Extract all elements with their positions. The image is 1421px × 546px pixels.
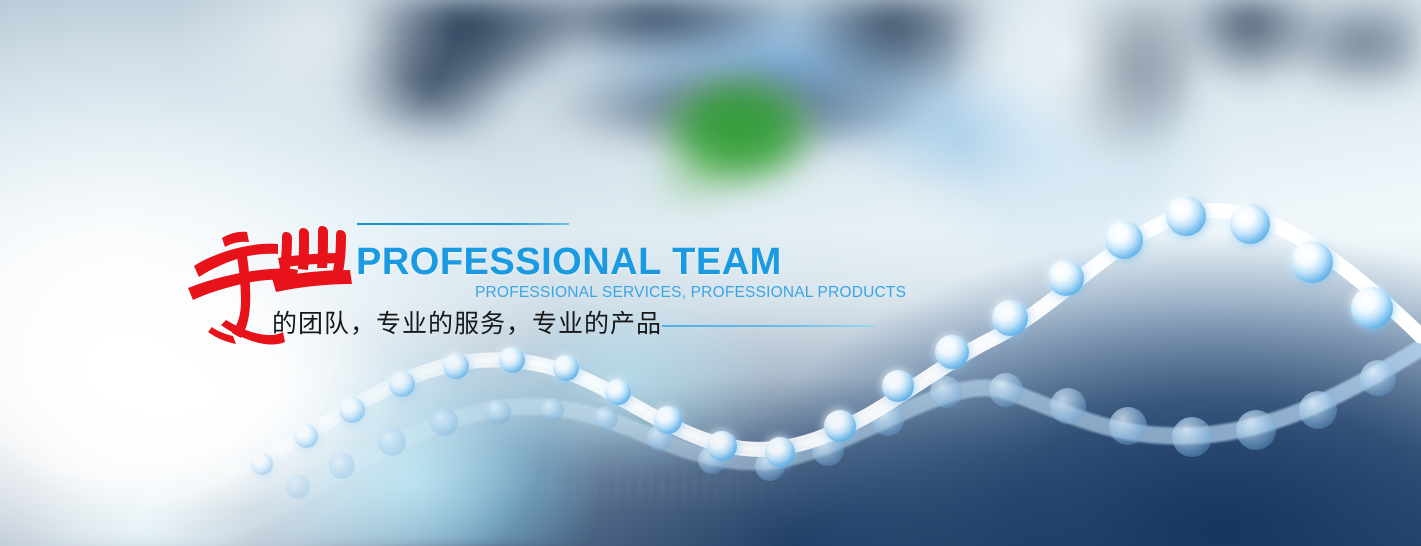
decorative-rule-top [357,223,569,225]
subheadline-services-products: PROFESSIONAL SERVICES, PROFESSIONAL PROD… [475,285,906,301]
banner-text-block: PROFESSIONAL TEAM PROFESSIONAL SERVICES,… [0,0,1421,546]
decorative-rule-bottom [662,325,876,327]
headline-professional-team: PROFESSIONAL TEAM [356,243,782,281]
tagline-chinese: 的团队，专业的服务，专业的产品 [272,308,662,342]
promotional-banner: PROFESSIONAL TEAM PROFESSIONAL SERVICES,… [0,0,1421,546]
